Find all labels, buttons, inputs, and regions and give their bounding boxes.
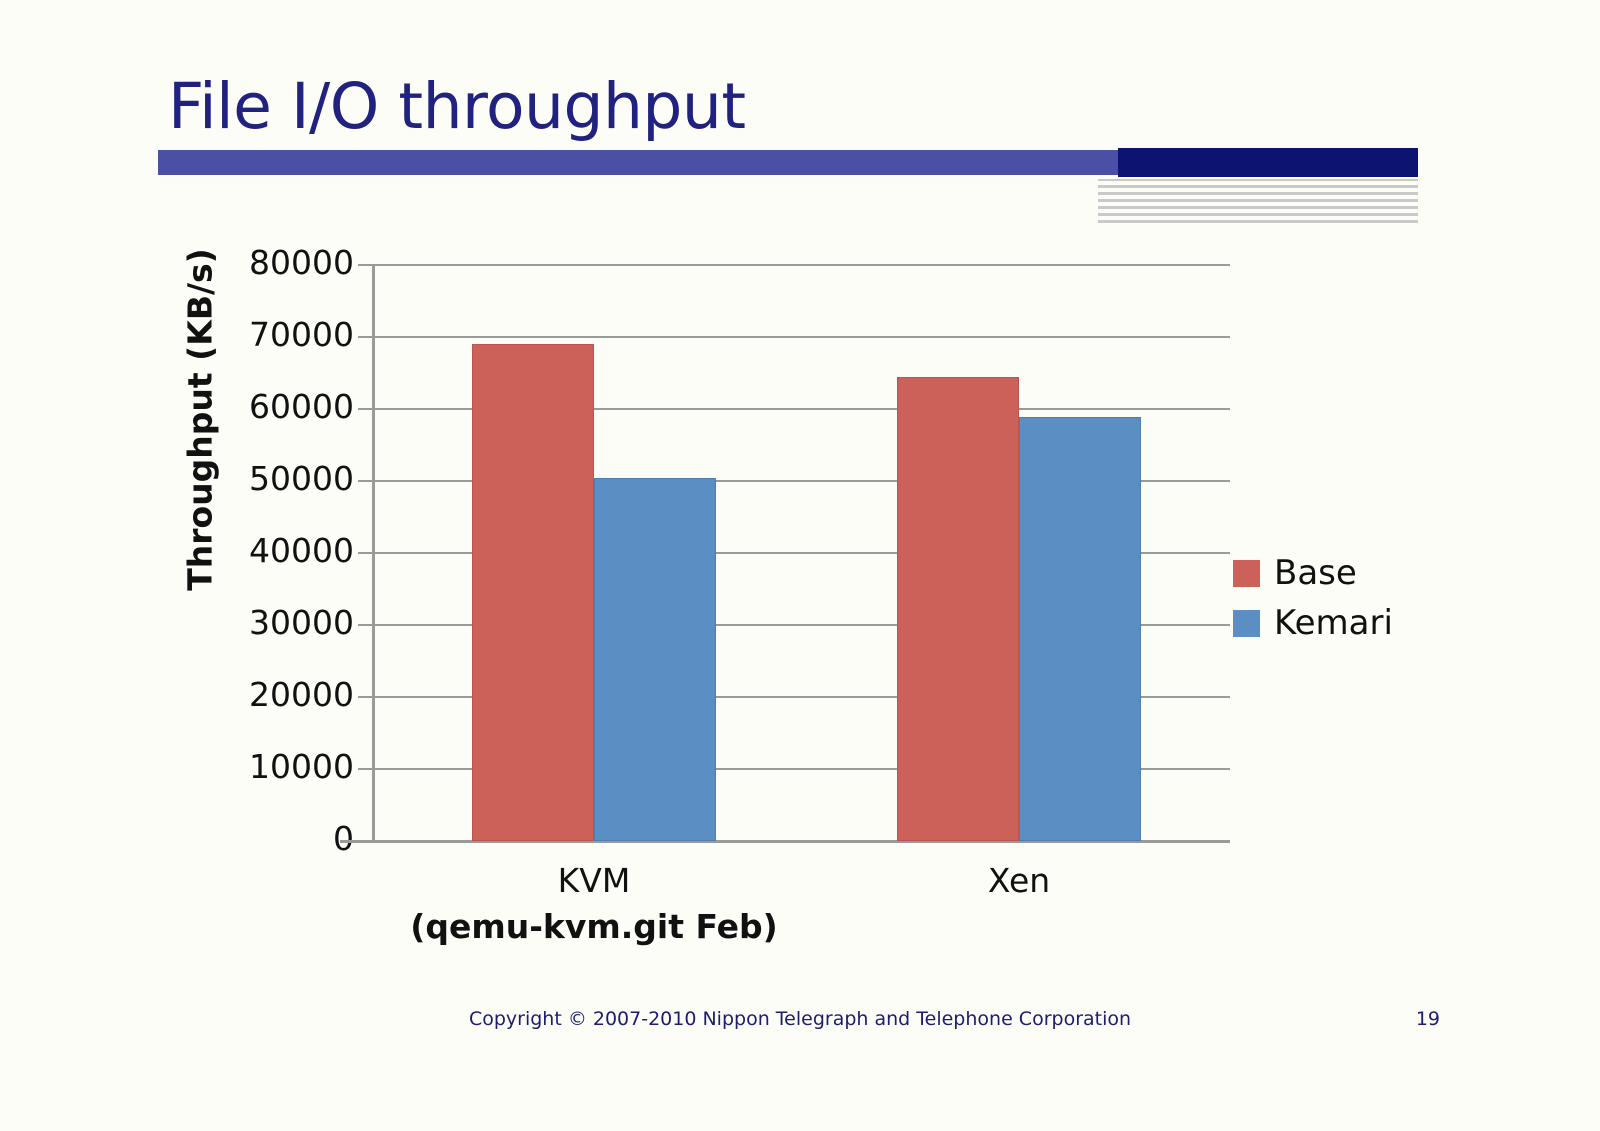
y-axis-tick-mark bbox=[358, 336, 373, 338]
bar-chart: Throughput (KB/s) 0100002000030000400005… bbox=[0, 0, 1600, 1131]
y-axis-tick-label: 20000 bbox=[249, 675, 354, 714]
gridline bbox=[372, 264, 1230, 266]
y-axis-tick-mark bbox=[358, 624, 373, 626]
y-axis-tick-label: 70000 bbox=[249, 315, 354, 354]
bar-kvm-base bbox=[472, 344, 594, 841]
y-axis-tick-label: 80000 bbox=[249, 243, 354, 282]
x-tick-secondary: (qemu-kvm.git Feb) bbox=[354, 904, 834, 950]
y-axis-tick-label: 50000 bbox=[249, 459, 354, 498]
y-axis-tick-mark bbox=[358, 696, 373, 698]
footer-copyright: Copyright © 2007-2010 Nippon Telegraph a… bbox=[0, 1008, 1600, 1030]
legend-item-base[interactable]: Base bbox=[1233, 548, 1393, 598]
chart-legend: BaseKemari bbox=[1233, 548, 1393, 648]
y-axis-line bbox=[372, 264, 375, 843]
legend-swatch-base bbox=[1233, 560, 1260, 587]
page-number: 19 bbox=[1416, 1008, 1440, 1030]
x-tick-primary: KVM bbox=[354, 858, 834, 904]
legend-label-base: Base bbox=[1274, 553, 1357, 593]
y-axis-tick-mark bbox=[358, 480, 373, 482]
gridline bbox=[372, 336, 1230, 338]
y-axis-tick-label: 0 bbox=[333, 819, 354, 858]
legend-item-kemari[interactable]: Kemari bbox=[1233, 598, 1393, 648]
y-axis-tick-mark bbox=[358, 768, 373, 770]
y-axis-tick-label: 60000 bbox=[249, 387, 354, 426]
y-axis-tick-label: 40000 bbox=[249, 531, 354, 570]
y-axis-tick-mark bbox=[358, 408, 373, 410]
slide-canvas: File I/O throughput Throughput (KB/s) 01… bbox=[0, 0, 1600, 1131]
bar-xen-base bbox=[897, 377, 1019, 841]
y-axis-tick-mark bbox=[358, 552, 373, 554]
bar-xen-kemari bbox=[1019, 417, 1141, 841]
bar-kvm-kemari bbox=[594, 478, 716, 841]
y-axis-title: Throughput (KB/s) bbox=[181, 190, 220, 650]
legend-label-kemari: Kemari bbox=[1274, 603, 1393, 643]
y-axis-tick-label: 30000 bbox=[249, 603, 354, 642]
x-axis-tick-label-xen: Xen bbox=[779, 858, 1259, 904]
y-axis-tick-mark bbox=[358, 264, 373, 266]
x-tick-primary: Xen bbox=[779, 858, 1259, 904]
legend-swatch-kemari bbox=[1233, 610, 1260, 637]
y-axis-tick-label: 10000 bbox=[249, 747, 354, 786]
x-axis-tick-label-kvm: KVM(qemu-kvm.git Feb) bbox=[354, 858, 834, 950]
